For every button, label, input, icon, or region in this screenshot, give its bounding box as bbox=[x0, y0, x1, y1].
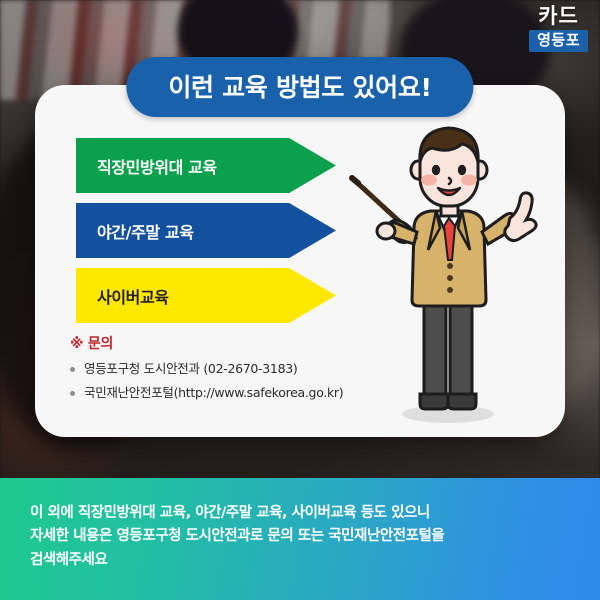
contact-item-text[interactable]: 국민재난안전포털(http://www.safekorea.go.kr) bbox=[84, 385, 343, 400]
pointer-stick-icon bbox=[352, 178, 400, 222]
character-hand-right-pointing bbox=[505, 193, 536, 241]
card-news-slide: 카드 영등포 이런 교육 방법도 있어요! 직장민방위대 교육 야간/주말 교육… bbox=[0, 0, 600, 600]
instructor-svg bbox=[340, 118, 540, 428]
brand-region-chip: 영등포 bbox=[529, 30, 588, 52]
contact-section: ※ 문의 영등포구청 도시안전과 (02-2670-3183) 국민재난안전포털… bbox=[70, 333, 343, 410]
contact-list-item: 영등포구청 도시안전과 (02-2670-3183) bbox=[70, 362, 343, 376]
character-eye-right bbox=[458, 165, 466, 175]
footer-banner: 이 외에 직장민방위대 교육, 야간/주말 교육, 사이버교육 등도 있으니 자… bbox=[0, 478, 600, 600]
contact-heading: ※ 문의 bbox=[70, 333, 343, 353]
brand-name: 카드 bbox=[529, 6, 588, 27]
page-title: 이런 교육 방법도 있어요! bbox=[126, 57, 473, 117]
character-eye-left bbox=[432, 165, 440, 175]
contact-item-text: 영등포구청 도시안전과 (02-2670-3183) bbox=[84, 361, 297, 376]
character-hand-left bbox=[377, 223, 395, 239]
contact-list-item: 국민재난안전포털(http://www.safekorea.go.kr) bbox=[70, 386, 343, 400]
jacket-button bbox=[447, 275, 453, 281]
education-type-list: 직장민방위대 교육 야간/주말 교육 사이버교육 bbox=[76, 138, 336, 323]
character-blush-right bbox=[461, 175, 477, 186]
arrow-banner-cyber-education[interactable]: 사이버교육 bbox=[76, 268, 336, 323]
instructor-illustration bbox=[340, 118, 540, 428]
jacket-button bbox=[447, 287, 453, 293]
arrow-banner-night-weekend[interactable]: 야간/주말 교육 bbox=[76, 203, 336, 258]
contact-list: 영등포구청 도시안전과 (02-2670-3183) 국민재난안전포털(http… bbox=[70, 362, 343, 400]
bullet-icon bbox=[70, 391, 75, 396]
arrow-banner-label: 직장민방위대 교육 bbox=[97, 154, 217, 178]
character-blush-left bbox=[421, 175, 437, 186]
jacket-button bbox=[447, 263, 453, 269]
character-legs bbox=[424, 296, 472, 400]
footer-text: 이 외에 직장민방위대 교육, 야간/주말 교육, 사이버교육 등도 있으니 자… bbox=[30, 502, 576, 572]
bullet-icon bbox=[70, 367, 75, 372]
arrow-banner-workplace-civil-defense[interactable]: 직장민방위대 교육 bbox=[76, 138, 336, 193]
brand-logo: 카드 영등포 bbox=[529, 6, 588, 52]
character-shoes bbox=[420, 394, 476, 409]
arrow-banner-label: 사이버교육 bbox=[97, 284, 169, 308]
arrow-banner-label: 야간/주말 교육 bbox=[97, 219, 194, 243]
